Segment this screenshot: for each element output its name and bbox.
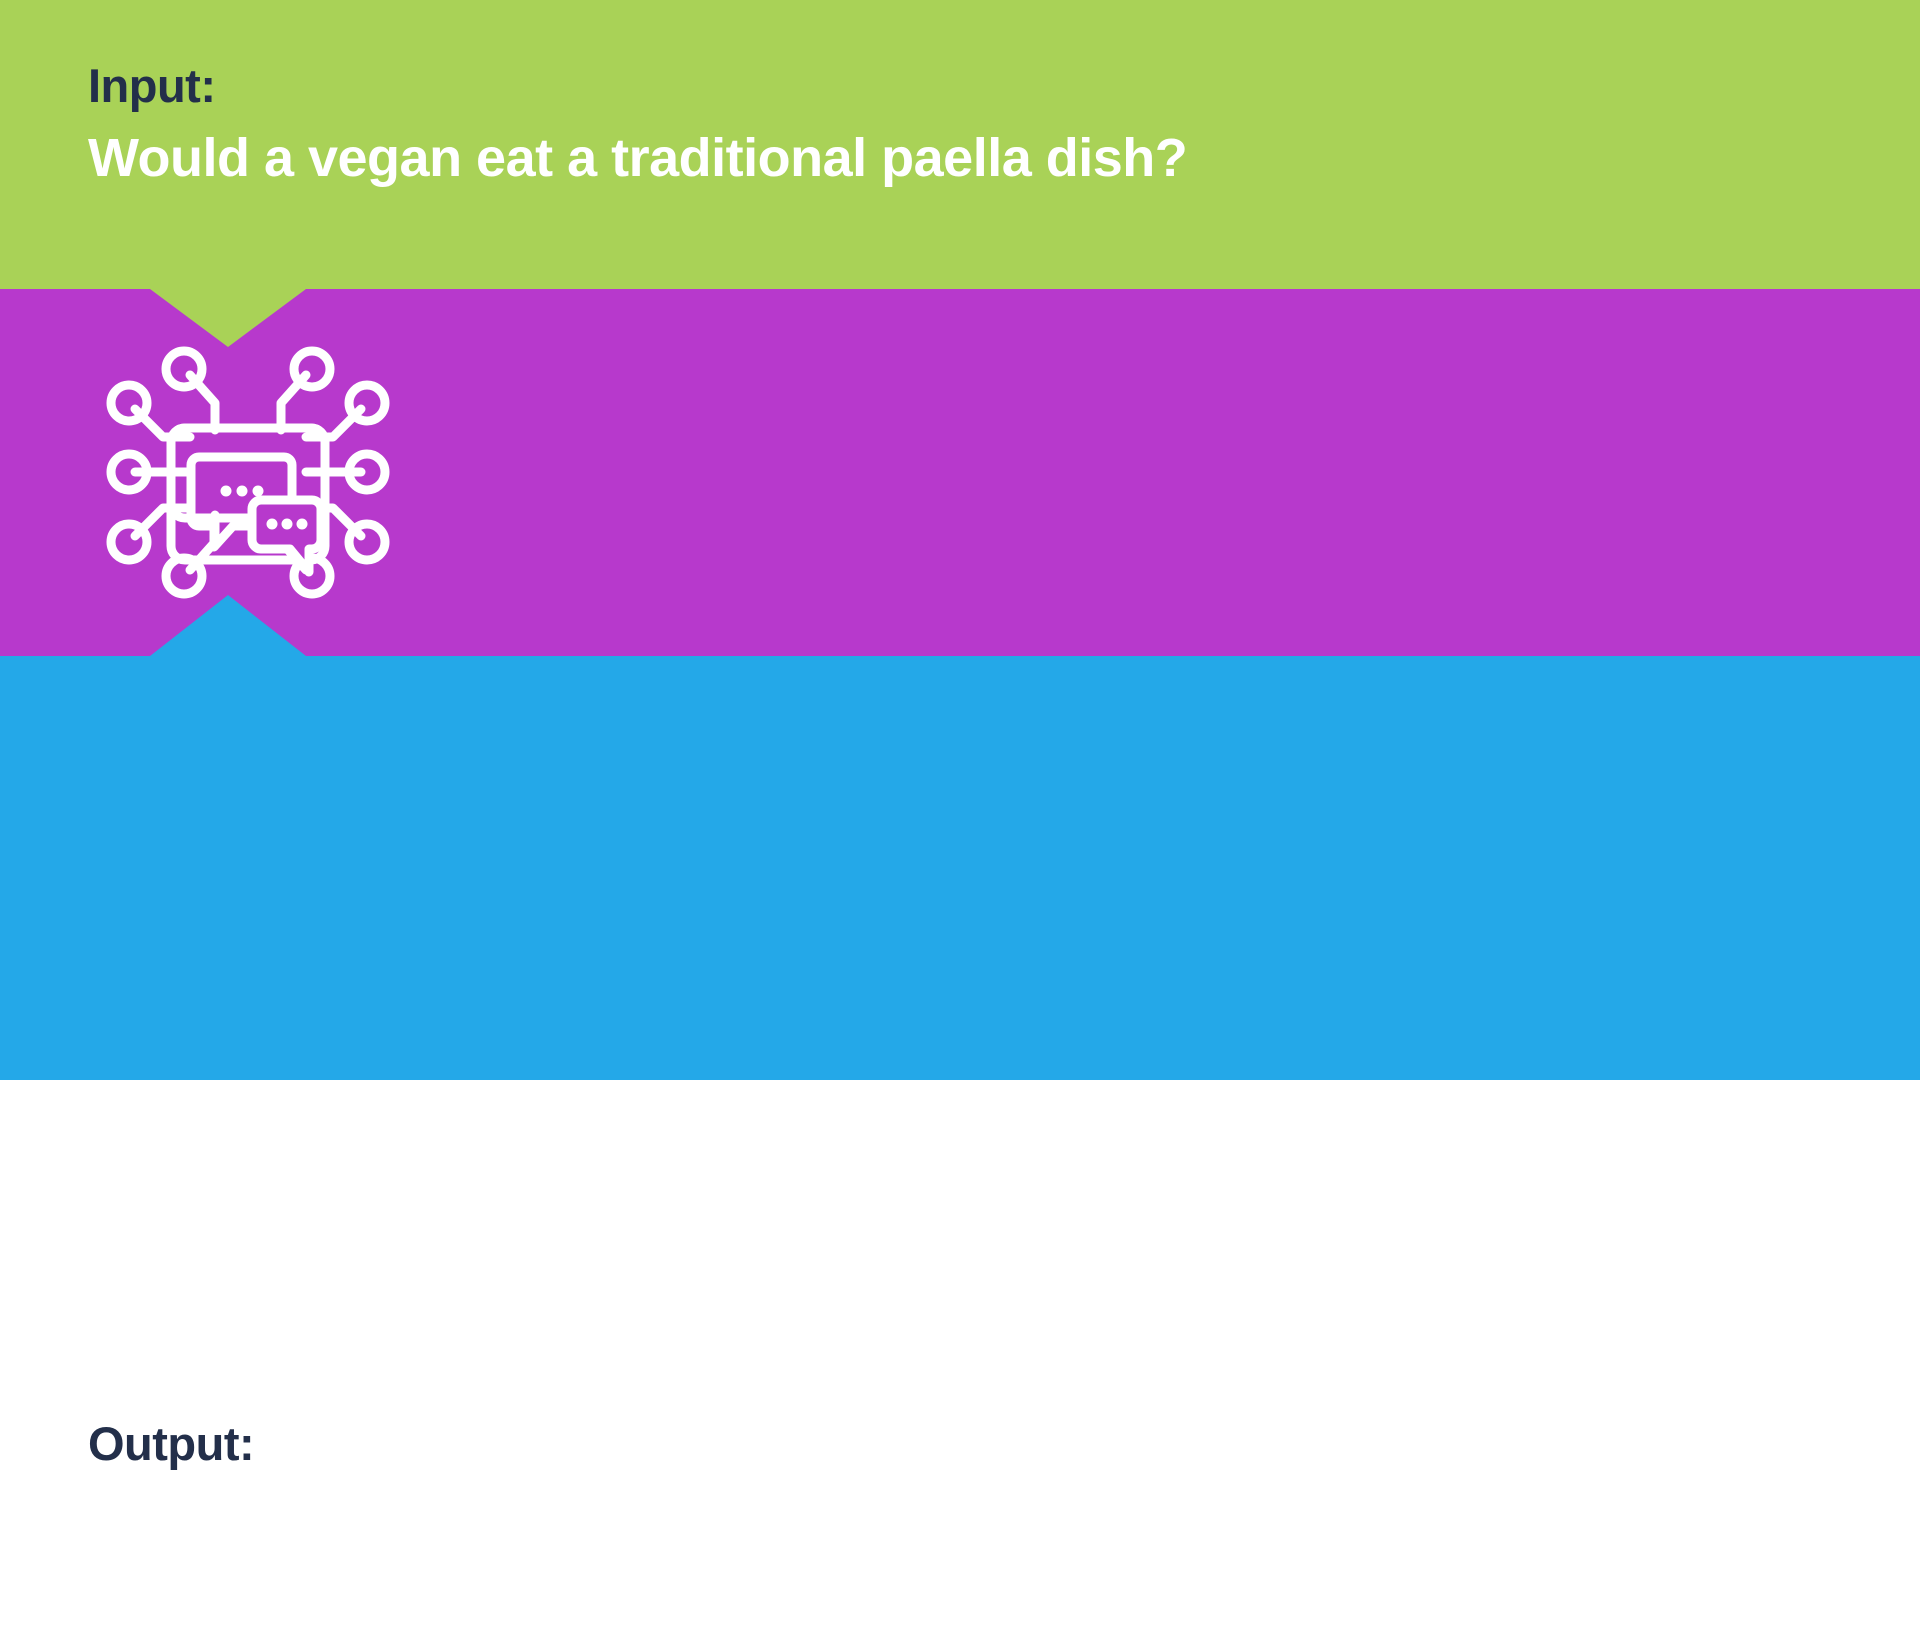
ai-chip-chat-icon (78, 300, 418, 645)
output-line-2: So the answer is no. (88, 1584, 600, 1646)
input-heading: Input: (88, 58, 216, 113)
output-heading: Output: (88, 1416, 254, 1471)
input-question-text: Would a vegan eat a traditional paella d… (88, 127, 1187, 189)
output-line-1: Paella is a dish that traditionally cont… (88, 1514, 1307, 1576)
diagram-canvas: Input: Would a vegan eat a traditional p… (0, 0, 1920, 1080)
input-band: Input: Would a vegan eat a traditional p… (0, 0, 1920, 289)
output-band: Output: Paella is a dish that traditiona… (0, 656, 1920, 1080)
